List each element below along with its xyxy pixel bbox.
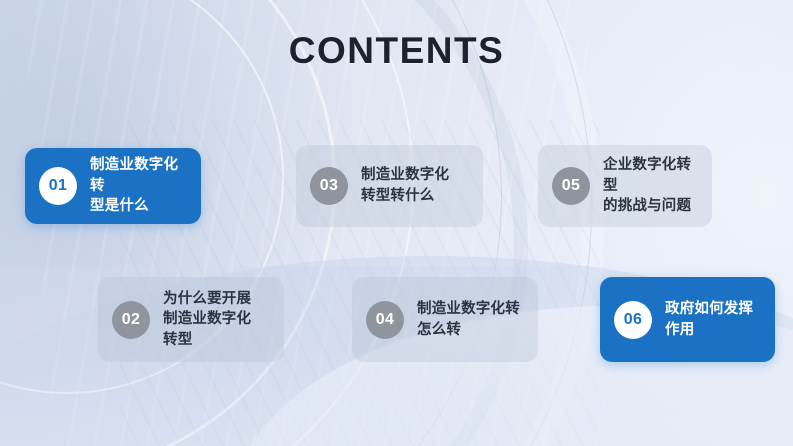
page-title: CONTENTS bbox=[0, 30, 793, 72]
contents-item-03-number: 03 bbox=[310, 167, 348, 205]
presentation-slide: CONTENTS 01 制造业数字化转 型是什么 03 制造业数字化 转型转什么… bbox=[0, 0, 793, 446]
contents-item-06-number: 06 bbox=[614, 301, 652, 339]
contents-item-05[interactable]: 05 企业数字化转型 的挑战与问题 bbox=[538, 145, 712, 227]
contents-item-01-number: 01 bbox=[39, 167, 77, 205]
contents-item-02-number: 02 bbox=[112, 301, 150, 339]
contents-item-02-label: 为什么要开展 制造业数字化 转型 bbox=[163, 289, 251, 351]
contents-item-01-label: 制造业数字化转 型是什么 bbox=[90, 155, 191, 217]
contents-item-06[interactable]: 06 政府如何发挥 作用 bbox=[600, 277, 775, 362]
contents-item-01[interactable]: 01 制造业数字化转 型是什么 bbox=[25, 148, 201, 224]
contents-item-05-number: 05 bbox=[552, 167, 590, 205]
contents-item-04-label: 制造业数字化转 怎么转 bbox=[417, 299, 520, 340]
contents-item-03-label: 制造业数字化 转型转什么 bbox=[361, 165, 449, 206]
contents-item-02[interactable]: 02 为什么要开展 制造业数字化 转型 bbox=[98, 277, 284, 362]
contents-item-04[interactable]: 04 制造业数字化转 怎么转 bbox=[352, 277, 538, 362]
contents-item-04-number: 04 bbox=[366, 301, 404, 339]
contents-item-03[interactable]: 03 制造业数字化 转型转什么 bbox=[296, 145, 483, 227]
contents-item-06-label: 政府如何发挥 作用 bbox=[665, 299, 753, 340]
contents-item-05-label: 企业数字化转型 的挑战与问题 bbox=[603, 155, 702, 217]
